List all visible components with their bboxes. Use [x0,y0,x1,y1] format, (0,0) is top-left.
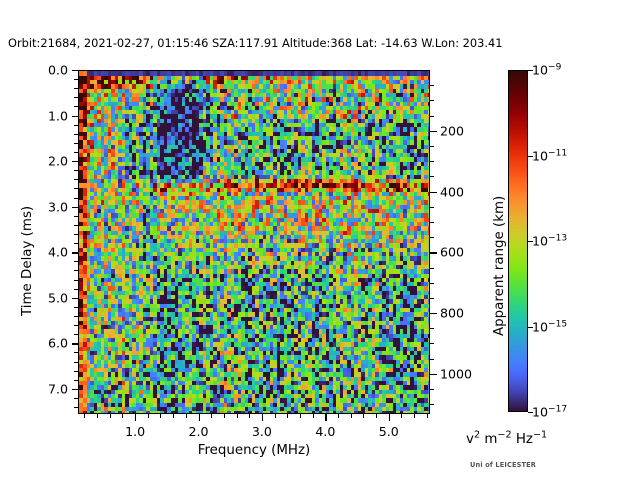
y2-tick-minor [430,100,434,101]
y-tick-major [72,389,79,390]
x-tick-minor [224,414,225,418]
x-tick-label: 1.0 [125,424,145,439]
y2-tick-major [430,192,437,193]
x-tick-minor [376,414,377,418]
y-tick-major [72,70,79,71]
y-tick-label: 4.0 [8,245,68,260]
y2-tick-major [430,374,437,375]
y2-tick-minor [430,359,434,360]
y-tick-label: 6.0 [8,336,68,351]
x-tick-minor [160,414,161,418]
colorbar-tick-label: 10−9 [532,63,561,78]
y2-tick-minor [430,389,434,390]
ionogram-heatmap [79,71,430,414]
y-tick-minor [74,106,78,107]
y-tick-minor [74,270,78,271]
y2-tick-minor [430,268,434,269]
y2-tick-major [430,131,437,132]
y2-tick-label: 200 [440,123,464,138]
x-tick-minor [414,414,415,418]
x-tick-minor [211,414,212,418]
y2-tick-minor [430,328,434,329]
y2-axis-title: Apparent range (km) [492,196,507,336]
x-tick-minor [122,414,123,418]
x-axis-title: Frequency (MHz) [198,443,311,458]
y-tick-minor [74,316,78,317]
y-tick-major [72,116,79,117]
y-tick-minor [74,371,78,372]
x-tick-minor [249,414,250,418]
y-tick-minor [74,134,78,135]
x-tick-minor [338,414,339,418]
y-tick-minor [74,289,78,290]
y-tick-label: 0.0 [8,63,68,78]
y-tick-minor [74,198,78,199]
x-tick-minor [97,414,98,418]
y-tick-minor [74,280,78,281]
y2-tick-minor [430,237,434,238]
colorbar-tick-label: 10−11 [532,148,567,163]
x-tick-minor [313,414,314,418]
y-tick-label: 7.0 [8,381,68,396]
y-tick-minor [74,179,78,180]
y2-tick-major [430,313,437,314]
y-tick-minor [74,79,78,80]
x-tick-label: 4.0 [315,424,335,439]
y-tick-label: 2.0 [8,154,68,169]
y-tick-minor [74,362,78,363]
y-tick-minor [74,407,78,408]
y2-tick-minor [430,116,434,117]
colorbar-tick-label: 10−13 [532,234,567,249]
y-tick-minor [74,97,78,98]
y-tick-minor [74,88,78,89]
y-tick-minor [74,307,78,308]
y2-tick-label: 400 [440,184,464,199]
ionogram-axes [78,70,430,414]
x-tick-major [262,414,263,421]
y-tick-major [72,207,79,208]
x-tick-minor [84,414,85,418]
y2-tick-major [430,252,437,253]
y-tick-minor [74,243,78,244]
y-tick-major [72,252,79,253]
y2-tick-minor [430,298,434,299]
y-tick-minor [74,216,78,217]
y2-tick-minor [430,343,434,344]
y-tick-minor [74,352,78,353]
x-tick-major [135,414,136,421]
y-tick-label: 5.0 [8,290,68,305]
x-tick-major [389,414,390,421]
y2-tick-minor [430,207,434,208]
y-tick-minor [74,152,78,153]
colorbar-tick-label: 10−17 [532,405,567,420]
x-tick-minor [427,414,428,418]
y-tick-minor [74,380,78,381]
x-tick-minor [148,414,149,418]
x-tick-minor [300,414,301,418]
x-tick-minor [173,414,174,418]
y-tick-label: 1.0 [8,108,68,123]
x-tick-minor [401,414,402,418]
colorbar-tick-label: 10−15 [532,319,567,334]
x-tick-minor [287,414,288,418]
y-tick-minor [74,334,78,335]
y-axis-title: Time Delay (ms) [20,206,35,316]
y-tick-minor [74,325,78,326]
x-tick-minor [186,414,187,418]
x-tick-minor [110,414,111,418]
x-tick-minor [275,414,276,418]
y2-tick-minor [430,161,434,162]
y-tick-minor [74,125,78,126]
x-tick-minor [237,414,238,418]
plot-title: Orbit:21684, 2021-02-27, 01:15:46 SZA:11… [8,36,628,50]
x-tick-minor [351,414,352,418]
y-tick-minor [74,398,78,399]
x-tick-label: 2.0 [188,424,208,439]
y-tick-major [72,343,79,344]
x-tick-major [325,414,326,421]
y-tick-minor [74,188,78,189]
y2-tick-minor [430,222,434,223]
y-tick-minor [74,234,78,235]
y-tick-minor [74,225,78,226]
x-tick-minor [363,414,364,418]
colorbar [508,70,528,412]
y-tick-major [72,298,79,299]
y-tick-major [72,161,79,162]
figure-canvas: Orbit:21684, 2021-02-27, 01:15:46 SZA:11… [0,0,640,480]
x-tick-label: 5.0 [379,424,399,439]
y-tick-minor [74,143,78,144]
y2-tick-minor [430,176,434,177]
colorbar-gradient [509,71,527,411]
x-tick-major [199,414,200,421]
y2-tick-label: 800 [440,306,464,321]
y2-tick-minor [430,146,434,147]
y2-tick-label: 600 [440,245,464,260]
y2-tick-label: 1000 [440,366,472,381]
y-tick-minor [74,170,78,171]
institution-credit: Uni of LEICESTER [470,461,536,469]
y-tick-minor [74,261,78,262]
colorbar-unit-label: v2 m−2 Hz−1 [466,432,547,447]
y-tick-label: 3.0 [8,199,68,214]
y2-tick-minor [430,283,434,284]
y2-tick-minor [430,85,434,86]
x-tick-label: 3.0 [252,424,272,439]
y2-tick-minor [430,404,434,405]
